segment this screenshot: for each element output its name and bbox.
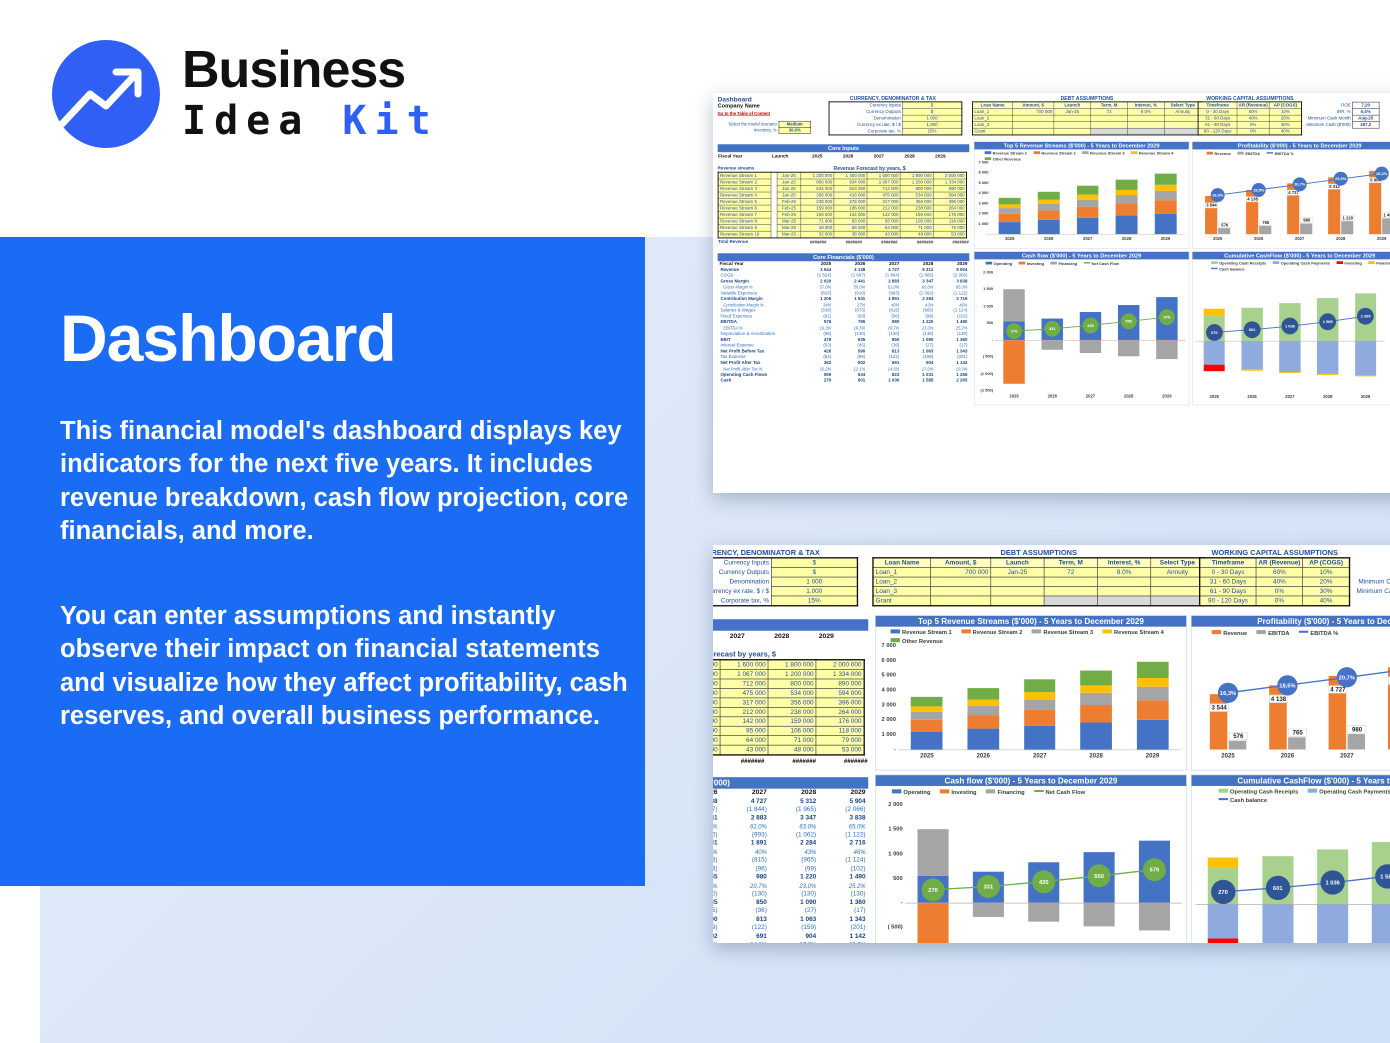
bar-segment — [911, 712, 943, 720]
table-row: EBITDA %16.3%18.5%20.7%23.0%25.2% — [713, 881, 868, 889]
y-axis-tick: 2 000 — [876, 716, 896, 723]
debt-cell[interactable] — [1151, 596, 1205, 606]
legend-item: Revenue Stream 4 — [1103, 625, 1164, 636]
core-financials-block: Core Financials ($'000) Fiscal Year20252… — [713, 777, 868, 943]
currency-label: Denomination — [713, 577, 771, 586]
debt-cell[interactable] — [1091, 128, 1128, 135]
kpi-row: Minimum Cash ($'000)187,2 — [1305, 122, 1379, 129]
revenue-value[interactable]: 38 000 — [834, 231, 867, 238]
column-header: Loan Name — [873, 558, 931, 568]
table-row: Net Profit After Tax3625026919041 142 — [713, 932, 868, 940]
table-row: Revenue Stream 4Jan-25356 000416 000475 … — [713, 688, 864, 697]
wc-cell[interactable]: 40% — [1256, 577, 1303, 586]
bar-segment — [911, 732, 943, 750]
revenue-launch[interactable]: Mar-25 — [777, 231, 801, 238]
wc-cell[interactable]: 10% — [1303, 568, 1350, 577]
financial-value: 1 490 — [819, 873, 868, 881]
revenue-value[interactable]: 53 000 — [933, 231, 966, 238]
financial-value: 1 360 — [819, 898, 868, 906]
revenue-value[interactable]: 53 000 — [816, 745, 864, 755]
revenue-value[interactable]: 356 000 — [768, 698, 816, 707]
currency-table: Currency Inputs$Currency Outputs$Denomin… — [829, 101, 963, 135]
debt-cell[interactable] — [1044, 596, 1097, 606]
debt-cell[interactable]: 700 000 — [931, 568, 991, 577]
debt-cell[interactable] — [1054, 128, 1091, 135]
chart-cumulative-cashflow[interactable]: Cumulative CashFlow ($'000) - 5 Years to… — [1192, 251, 1390, 405]
bar-segment — [1038, 204, 1060, 210]
dashboard-screenshot-bottom[interactable]: Dashboard Company Name Go to the Table o… — [713, 545, 1390, 943]
legend-label: Other Revenue — [902, 637, 943, 644]
bar-segment — [1077, 200, 1099, 207]
year-header: 2027 — [720, 789, 769, 797]
financial-value: 635 — [713, 898, 720, 906]
table-row: Currency Outputs$ — [713, 568, 857, 577]
debt-section-title: DEBT ASSUMPTIONS — [872, 549, 1205, 557]
debt-assumptions-block: DEBT ASSUMPTIONS Loan NameAmount, $Launc… — [872, 549, 1205, 606]
bar-segment — [1024, 710, 1056, 726]
debt-table: Loan NameAmount, $LaunchTerm, MInterest,… — [972, 101, 1202, 135]
financial-value: (201) — [819, 924, 868, 932]
wc-cell[interactable]: 0 - 30 Days — [1200, 568, 1256, 577]
bar-segment — [1077, 218, 1099, 234]
revenue-value[interactable]: 71 000 — [768, 736, 816, 745]
legend-swatch — [961, 629, 970, 633]
financial-value: 46% — [819, 848, 868, 856]
currency-label: Corporate tax, % — [713, 596, 771, 606]
chart-cash-flow[interactable]: Cash flow ($'000) - 5 Years to December … — [875, 775, 1187, 944]
table-row: Revenue Stream 6Feb-25159 000186 000212 … — [713, 707, 864, 716]
kpi-row: Minimum Cash MonthAug-25 — [1354, 577, 1390, 586]
table-row: Revenue Stream 10Mar-2532 00038 00043 00… — [718, 231, 966, 238]
table-row: Select the model scenario Medium — [718, 121, 811, 127]
year-header: 2029 — [819, 789, 868, 797]
total-revenue-value: ####### — [765, 756, 817, 765]
revenue-value[interactable]: 1 400 000 — [834, 172, 867, 179]
financial-value: 3 347 — [770, 814, 819, 822]
year-header: 2028 — [884, 153, 915, 159]
bar-segment — [911, 707, 943, 712]
column-header: Amount, $ — [1012, 102, 1053, 109]
revenue-value[interactable]: 186 000 — [713, 707, 720, 716]
bar-segment — [911, 720, 943, 732]
debt-cell[interactable]: Grant — [973, 128, 1013, 135]
bar-segment — [1038, 220, 1060, 234]
revenue-launch[interactable]: Jan-25 — [777, 172, 801, 179]
revenue-value[interactable]: 278 000 — [713, 698, 720, 707]
financial-value: 19.3% — [819, 941, 868, 943]
financial-value: (17) — [819, 907, 868, 915]
kpi-value: 187,2 — [1352, 122, 1379, 129]
currency-value[interactable]: 15% — [771, 596, 857, 606]
debt-cell[interactable] — [931, 577, 991, 586]
revenue-value[interactable]: 159 000 — [768, 717, 816, 726]
total-revenue-value: ####### — [898, 239, 934, 245]
revenue-value[interactable]: 1 067 000 — [720, 670, 768, 679]
bar-segment — [1137, 678, 1169, 687]
currency-section-title: CURRENCY, DENOMINATOR & TAX — [713, 549, 851, 557]
column-header: Interest, % — [1128, 102, 1165, 109]
revenue-value[interactable]: 1 800 000 — [768, 660, 816, 670]
bar-segment — [1155, 200, 1177, 214]
table-row: Grant — [973, 128, 1202, 135]
currency-denominator-tax-block: CURRENCY, DENOMINATOR & TAX Currency Inp… — [713, 549, 858, 606]
table-row: Depreciation & Amortization(98)(130)(130… — [713, 890, 868, 898]
core-inputs-header: Fiscal Year Launch20252026202720282029 — [718, 153, 946, 159]
table-row: Loan_3 — [873, 587, 1204, 596]
revenue-value[interactable]: 264 000 — [816, 707, 864, 716]
legend-item: Other Revenue — [985, 155, 1021, 163]
legend-label: Revenue Stream 3 — [1090, 151, 1124, 156]
wc-cell[interactable]: 60% — [1256, 568, 1303, 577]
debt-cell[interactable] — [1044, 587, 1097, 596]
column-header: Timeframe — [1198, 102, 1237, 109]
data-label-cash-balance: 1 585 — [1319, 313, 1336, 330]
revenue-value[interactable]: 2 000 000 — [933, 172, 966, 179]
legend-label: Revenue Stream 2 — [1041, 151, 1075, 156]
currency-label: Currency Inputs — [829, 102, 902, 109]
column-header: AR (Revenue) — [1256, 558, 1303, 568]
bar-segment — [999, 198, 1021, 205]
bar-segment — [999, 222, 1021, 234]
debt-cell[interactable]: Annuity — [1151, 568, 1205, 577]
kpi-label: Minimum Cash Month — [1305, 115, 1352, 122]
year-header: 2028 — [770, 789, 819, 797]
revenue-value[interactable]: 48 000 — [768, 745, 816, 755]
bar-segment — [1116, 180, 1138, 190]
revenue-value[interactable]: 1 600 000 — [720, 660, 768, 670]
company-name: Company Name — [718, 103, 811, 109]
debt-cell[interactable] — [1097, 596, 1150, 606]
revenue-value[interactable]: 118 000 — [816, 726, 864, 735]
scenario-table: Select the model scenario Medium Invento… — [718, 121, 811, 134]
revenue-value[interactable]: 1 400 000 — [713, 660, 720, 670]
revenue-value[interactable]: 124 000 — [713, 717, 720, 726]
brand-name-line1: Business — [182, 44, 439, 96]
bar-segment — [967, 715, 999, 729]
legend-swatch — [1033, 151, 1040, 154]
revenue-value[interactable]: 800 000 — [768, 679, 816, 688]
y-axis-tick: 4 000 — [876, 686, 896, 693]
table-row: Grant — [873, 596, 1204, 606]
financial-value: 1 585 — [901, 378, 935, 384]
debt-cell[interactable] — [1128, 128, 1165, 135]
financial-value: 1 891 — [720, 839, 769, 847]
kpi-label: IRR, % — [1354, 568, 1390, 577]
revenue-value[interactable]: 934 000 — [713, 670, 720, 679]
core-financials-block: Core Financials ($'000) Fiscal Year20252… — [718, 253, 970, 383]
revenue-value[interactable]: 38 000 — [713, 745, 720, 755]
legend-swatch — [1103, 629, 1112, 633]
bar-segment — [1116, 190, 1138, 195]
data-label-ebitda-pct: 16,3% — [1218, 683, 1238, 703]
revenue-forecast-block: Revenue streams Revenue Forecast by year… — [718, 166, 970, 245]
panel-paragraph-1: This financial model's dashboard display… — [60, 415, 650, 549]
revenue-value[interactable]: 106 000 — [768, 726, 816, 735]
wc-cell[interactable]: 40% — [1303, 596, 1350, 606]
debt-cell[interactable]: Loan_2 — [873, 577, 931, 586]
bar-segment — [1024, 699, 1056, 710]
financial-value: (122) — [720, 924, 769, 932]
legend-label: Revenue Stream 4 — [1114, 629, 1164, 636]
debt-cell[interactable] — [1044, 577, 1097, 586]
kpi-row: Minimum Cash ($'000)187,2 — [1354, 587, 1390, 596]
debt-cell[interactable] — [1151, 587, 1205, 596]
debt-cell[interactable] — [1097, 587, 1150, 596]
financial-value: (1 122) — [819, 831, 868, 839]
financial-value: 3 838 — [819, 814, 868, 822]
growth-arrow-icon — [52, 40, 160, 148]
currency-value[interactable]: $ — [771, 568, 857, 577]
currency-value[interactable]: 15% — [902, 128, 961, 135]
column-header: Launch — [991, 558, 1044, 568]
revenue-value[interactable]: 317 000 — [720, 698, 768, 707]
financial-label: Cash — [718, 378, 799, 384]
chart-profitability[interactable]: Profitability ($'000) - 5 Years to Decem… — [1191, 615, 1390, 770]
revenue-value[interactable]: 1 200 000 — [801, 172, 834, 179]
chart-cash-flow[interactable]: Cash flow ($'000) - 5 Years to December … — [974, 251, 1189, 405]
total-revenue-value: ####### — [862, 239, 898, 245]
financial-value: 43% — [770, 848, 819, 856]
table-row: Corporate tax, %15% — [829, 128, 962, 135]
revenue-value[interactable]: 176 000 — [816, 717, 864, 726]
table-row: Contribution Margin %34%37%40%43%46% — [713, 848, 868, 856]
financial-value: 2 284 — [770, 839, 819, 847]
debt-cell[interactable] — [931, 587, 991, 596]
x-axis-tick: 2028 — [1083, 752, 1110, 759]
debt-cell[interactable]: Loan_1 — [873, 568, 931, 577]
debt-cell[interactable]: Loan_3 — [873, 587, 931, 596]
data-label-net-cash-flow: 331 — [1044, 321, 1060, 337]
total-revenue-row: Total Revenue###########################… — [713, 756, 868, 765]
wc-cell[interactable]: 90 - 120 Days — [1198, 128, 1237, 135]
data-label-cash-balance: 1 585 — [1375, 864, 1390, 888]
wc-cell[interactable]: 0% — [1256, 587, 1303, 596]
financial-value: 5 904 — [819, 797, 868, 805]
revenue-value[interactable]: 396 000 — [816, 698, 864, 707]
table-row: 31 - 60 Days40%20% — [1198, 115, 1302, 122]
revenue-value[interactable]: 142 000 — [720, 717, 768, 726]
revenue-value[interactable]: 79 000 — [816, 736, 864, 745]
currency-value[interactable]: 1.000 — [771, 587, 857, 596]
financial-value: (1 697) — [713, 806, 720, 814]
wc-cell[interactable]: 0% — [1237, 128, 1269, 135]
revenue-value[interactable]: 83 000 — [713, 726, 720, 735]
financial-value: 14.6% — [720, 941, 769, 943]
financial-value: (993) — [720, 831, 769, 839]
data-label-ebitda-pct: 18,5% — [1277, 675, 1297, 695]
chart-top5-revenue[interactable]: Top 5 Revenue Streams ($'000) - 5 Years … — [875, 615, 1187, 770]
year-header: 2028 — [745, 632, 790, 641]
year-header: 2025 — [792, 153, 823, 159]
debt-cell[interactable] — [991, 596, 1044, 606]
bar-segment — [967, 699, 999, 705]
table-row: EBITDA5767659801 2201 490 — [713, 873, 868, 881]
wc-cell[interactable]: 20% — [1303, 577, 1350, 586]
financial-value: 12.1% — [713, 941, 720, 943]
debt-cell[interactable]: Jan-25 — [991, 568, 1044, 577]
financial-value: (965) — [770, 856, 819, 864]
revenue-forecast-title: Revenue Forecast by years, $ — [770, 166, 969, 172]
debt-cell[interactable]: 8.0% — [1097, 568, 1150, 577]
financial-value: 1 090 — [770, 898, 819, 906]
legend-item: Revenue Stream 4 — [1131, 148, 1173, 156]
dashboard-screenshot-top[interactable]: Dashboard Company Name Go to the Table o… — [713, 93, 1390, 493]
bar-segment — [1137, 662, 1169, 678]
table-row: 0 - 30 Days60%10% — [1198, 109, 1302, 116]
revenue-value[interactable]: 95 000 — [720, 726, 768, 735]
revenue-value[interactable]: 43 000 — [867, 231, 900, 238]
bar-segment — [1080, 685, 1112, 693]
revenue-value[interactable]: 890 000 — [816, 679, 864, 688]
revenue-value[interactable]: 534 000 — [768, 688, 816, 697]
legend-item: Revenue Stream 2 — [1033, 148, 1075, 156]
financial-value: 502 — [713, 932, 720, 940]
bar-segment — [1155, 214, 1177, 235]
debt-cell[interactable] — [1164, 128, 1201, 135]
currency-value[interactable]: $ — [771, 558, 857, 568]
table-row: Denomination1 000 — [713, 577, 857, 586]
revenue-value[interactable]: 1 200 000 — [768, 670, 816, 679]
table-row: Loan_2 — [873, 577, 1204, 586]
table-of-content-link[interactable]: Go to the Table of Content — [718, 111, 770, 116]
financial-value: 1 036 — [867, 378, 901, 384]
financial-value: (1 965) — [770, 806, 819, 814]
debt-cell[interactable] — [1012, 128, 1053, 135]
core-financials-table: Fiscal Year20252026202720282029 Revenue3… — [713, 789, 868, 943]
x-axis-tick: 2029 — [1156, 236, 1175, 241]
financial-value: 850 — [720, 898, 769, 906]
revenue-value[interactable]: 212 000 — [720, 707, 768, 716]
revenue-forecast-table: Revenue Stream 1Jan-251 200 0001 400 000… — [718, 172, 967, 239]
revenue-value[interactable]: 1 600 000 — [867, 172, 900, 179]
data-label-cash-balance: 270 — [1211, 880, 1235, 904]
column-header: Select Type — [1164, 102, 1201, 109]
debt-cell[interactable]: 72 — [1044, 568, 1097, 577]
revenue-value[interactable]: 594 000 — [816, 688, 864, 697]
data-label-net-cash-flow: 679 — [1159, 309, 1175, 325]
revenue-value[interactable]: 623 000 — [713, 679, 720, 688]
bar-segment — [1077, 195, 1099, 200]
core-inputs-band: Core Inputs — [718, 144, 970, 152]
wc-cell[interactable]: 90 - 120 Days — [1200, 596, 1256, 606]
y-axis-tick: 4 000 — [974, 190, 988, 195]
revenue-value[interactable]: 48 000 — [900, 231, 933, 238]
debt-cell[interactable] — [1151, 577, 1205, 586]
sheet-header: Dashboard Company Name Go to the Table o… — [718, 96, 811, 134]
bar-segment — [1038, 210, 1060, 220]
column-header: Term, M — [1091, 102, 1128, 109]
financial-value: 40% — [720, 848, 769, 856]
bar-segment — [1077, 186, 1099, 195]
wc-cell[interactable]: 31 - 60 Days — [1200, 577, 1256, 586]
table-row: Revenue Stream 1Jan-251 200 0001 400 000… — [713, 660, 864, 670]
revenue-value[interactable]: 43 000 — [720, 745, 768, 755]
revenue-value[interactable]: 416 000 — [713, 688, 720, 697]
debt-cell[interactable]: Grant — [873, 596, 931, 606]
table-row: Cash2706011 0361 5852 265 — [718, 378, 970, 384]
table-row: COGS(1 524)(1 697)(1 844)(1 965)(2 066) — [713, 806, 868, 814]
revenue-value[interactable]: 1 334 000 — [816, 670, 864, 679]
revenue-value[interactable]: 64 000 — [720, 736, 768, 745]
financial-value: (130) — [819, 890, 868, 898]
kpi-row: IRR, %5,4% — [1354, 568, 1390, 577]
debt-cell[interactable] — [991, 587, 1044, 596]
year-header: 2029 — [915, 153, 946, 159]
year-header: 2029 — [790, 632, 835, 641]
debt-cell[interactable] — [931, 596, 991, 606]
table-row: Contribution Margin1 2051 5311 8912 2842… — [713, 839, 868, 847]
debt-cell[interactable] — [1097, 577, 1150, 586]
chart-profitability[interactable]: Profitability ($'000) - 5 Years to Decem… — [1192, 141, 1390, 248]
table-row: Inventory, % 30.0% — [718, 127, 811, 133]
financial-value: 37% — [713, 848, 720, 856]
table-row: Revenue Stream 8Mar-2571 00083 00095 000… — [713, 726, 864, 735]
table-row: Currency ex rate, $ / $1.000 — [713, 587, 857, 596]
wc-cell[interactable]: 30% — [1303, 587, 1350, 596]
debt-cell[interactable] — [991, 577, 1044, 586]
financial-value: (130) — [770, 890, 819, 898]
financial-value: 59.0% — [713, 822, 720, 830]
wc-cell[interactable]: 61 - 90 Days — [1200, 587, 1256, 596]
currency-value[interactable]: $ — [902, 102, 961, 109]
table-row: 61 - 90 Days0%30% — [1198, 122, 1302, 129]
chart-top5-revenue[interactable]: Top 5 Revenue Streams ($'000) - 5 Years … — [974, 141, 1189, 248]
financial-value: (2 066) — [819, 806, 868, 814]
revenue-value[interactable]: 32 000 — [801, 231, 834, 238]
financial-value: 813 — [720, 915, 769, 923]
x-axis-tick: 2027 — [1026, 752, 1053, 759]
financial-value: (130) — [720, 890, 769, 898]
inventory-value[interactable]: 30.0% — [779, 127, 811, 133]
column-header: Amount, $ — [931, 558, 991, 568]
revenue-value[interactable]: 238 000 — [768, 707, 816, 716]
x-axis-tick: 2026 — [970, 752, 997, 759]
revenue-value[interactable]: 475 000 — [720, 688, 768, 697]
table-row: Fixed Expenses(91)(93)(96)(99)(102) — [713, 865, 868, 873]
revenue-stream-name[interactable]: Revenue Stream 1 — [718, 172, 771, 179]
working-capital-table: TimeframeAR (Revenue)AP (COGS)0 - 30 Day… — [1199, 557, 1350, 606]
table-row: Revenue Stream 7Feb-25106 000124 000142 … — [713, 717, 864, 726]
financial-value: (93) — [713, 865, 720, 873]
legend-item: Other Revenue — [891, 634, 943, 645]
table-row: Variable Expenses(815)(910)(993)(1 062)(… — [713, 831, 868, 839]
revenue-value[interactable]: 712 000 — [720, 679, 768, 688]
revenue-value[interactable]: 56 000 — [713, 736, 720, 745]
core-inputs-band: Core Inputs — [713, 619, 868, 630]
currency-value[interactable]: 1 000 — [771, 577, 857, 586]
y-axis-tick: 7 000 — [876, 642, 896, 649]
revenue-stream-name[interactable]: Revenue Stream 10 — [718, 231, 771, 238]
table-row: Interest Expense(53)(45)(36)(27)(17) — [713, 907, 868, 915]
revenue-value[interactable]: 1 800 000 — [900, 172, 933, 179]
column-header: AP (COGS) — [1269, 102, 1301, 109]
revenue-value[interactable]: 2 000 000 — [816, 660, 864, 670]
financial-value: 691 — [720, 932, 769, 940]
chart-cumulative-cashflow[interactable]: Cumulative CashFlow ($'000) - 5 Years to… — [1191, 775, 1390, 944]
kpi-table: ROE7,20IRR, %5,4%Minimum Cash MonthAug-2… — [1354, 558, 1390, 596]
kpi-row: ROE7,20 — [1354, 558, 1390, 567]
wc-cell[interactable]: 40% — [1269, 128, 1301, 135]
table-row: 0 - 30 Days60%10% — [1200, 568, 1350, 577]
y-axis-tick: 6 000 — [876, 656, 896, 663]
table-row: 90 - 120 Days0%40% — [1200, 596, 1350, 606]
financial-value: 601 — [833, 378, 867, 384]
currency-label: Corporate tax, % — [829, 128, 902, 135]
data-label-net-cash-flow: 550 — [1088, 864, 1111, 887]
y-axis-tick: 3 000 — [876, 701, 896, 708]
currency-denominator-tax-block: CURRENCY, DENOMINATOR & TAX Currency Inp… — [829, 96, 963, 136]
wc-cell[interactable]: 0% — [1256, 596, 1303, 606]
